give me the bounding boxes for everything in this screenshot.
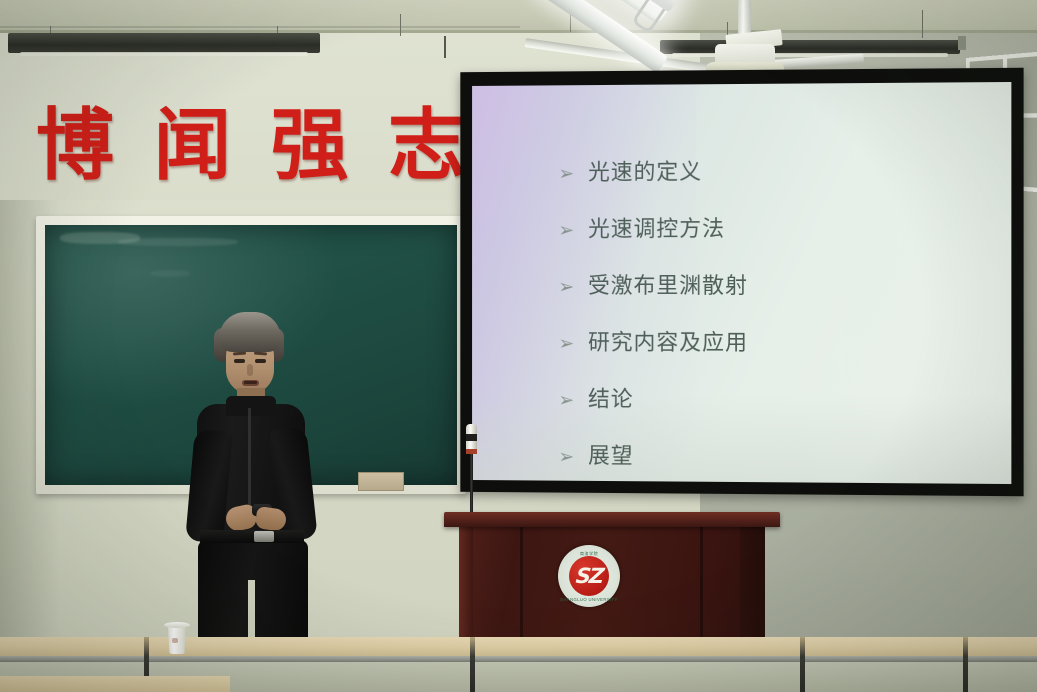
banner-char-2: 闻 (153, 107, 231, 185)
university-seal: 商洛学院 SHANGLUO UNIVERSITY SZ (558, 545, 620, 607)
ceiling-wire (400, 14, 401, 36)
banner-char-4: 志 (388, 107, 466, 185)
slide-bullet-item: ➢ 结论 (558, 381, 991, 415)
desk-seam (470, 637, 475, 692)
microphone-accent (466, 449, 477, 454)
window-hinge (958, 36, 966, 50)
belt (200, 530, 304, 543)
lectern-panel-seam (700, 527, 703, 650)
ceiling-wire (444, 36, 446, 58)
slide-bullet-item: ➢ 光速的定义 (558, 153, 991, 187)
slide-bullet-text: 结论 (588, 381, 634, 413)
microphone-stand (470, 448, 473, 520)
lectern-right-edge (740, 527, 765, 650)
classroom-scene: 博 闻 强 志 ➢ 光速的定义 ➢ 光速调控方法 ➢ (0, 0, 1037, 692)
bullet-arrow-icon: ➢ (558, 221, 588, 240)
lectern-top-surface (444, 512, 780, 527)
second-row-desk (0, 676, 230, 692)
ceiling-wire (922, 10, 923, 38)
slide-bullet-item: ➢ 受激布里渊散射 (558, 268, 991, 300)
slide-bullet-text: 展望 (588, 438, 634, 470)
blackboard-plaque (358, 472, 404, 491)
banner-char-1: 博 (36, 107, 114, 185)
classroom-motto-banner: 博 闻 强 志 (36, 96, 466, 196)
desk-seam (800, 637, 805, 692)
slide-bullet-item: ➢ 展望 (558, 438, 991, 473)
nose (247, 364, 253, 376)
chalk-smudge (150, 270, 190, 277)
fluorescent-tube (20, 52, 307, 56)
bullet-arrow-icon: ➢ (558, 165, 588, 184)
fluorescent-fixture-left (8, 33, 320, 53)
hair (219, 312, 281, 352)
seal-center: SZ (569, 556, 609, 596)
bullet-arrow-icon: ➢ (558, 278, 588, 297)
lectern-left-edge (459, 527, 473, 650)
mouth-interior (244, 381, 257, 384)
slide-bullet-text: 光速的定义 (588, 154, 702, 186)
slide-bullet-text: 受激布里渊散射 (588, 268, 748, 300)
seal-monogram: SZ (575, 564, 604, 588)
projection-screen-surface: ➢ 光速的定义 ➢ 光速调控方法 ➢ 受激布里渊散射 ➢ 研究内容及应用 ➢ (472, 82, 1011, 484)
paper-cup-print (172, 638, 178, 643)
bullet-arrow-icon: ➢ (558, 335, 588, 354)
lectern-panel-seam (520, 527, 523, 650)
jacket-placket (248, 408, 251, 518)
banner-char-3: 强 (271, 107, 349, 185)
slide-bullet-item: ➢ 光速调控方法 (558, 210, 991, 243)
slide-bullet-list: ➢ 光速的定义 ➢ 光速调控方法 ➢ 受激布里渊散射 ➢ 研究内容及应用 ➢ (558, 153, 991, 498)
bullet-arrow-icon: ➢ (558, 448, 588, 467)
eye (255, 359, 266, 363)
jacket-collar (226, 396, 276, 416)
fluorescent-fixture-right (660, 40, 960, 54)
eye (234, 359, 245, 363)
lecturer (178, 312, 324, 652)
projection-screen: ➢ 光速的定义 ➢ 光速调控方法 ➢ 受激布里渊散射 ➢ 研究内容及应用 ➢ (460, 68, 1023, 497)
ceiling-conduit (0, 26, 520, 28)
slide-bullet-text: 光速调控方法 (588, 211, 725, 243)
microphone-band (466, 434, 477, 441)
chalk-smudge (118, 238, 238, 246)
slide-bullet-item: ➢ 研究内容及应用 (558, 325, 991, 358)
desk-seam (963, 637, 968, 692)
bullet-arrow-icon: ➢ (558, 391, 588, 410)
paper-cup-rim (164, 622, 190, 628)
belt-buckle (254, 531, 274, 542)
seal-bottom-arc-text: SHANGLUO UNIVERSITY (558, 597, 620, 602)
slide-bullet-text: 研究内容及应用 (588, 325, 748, 357)
